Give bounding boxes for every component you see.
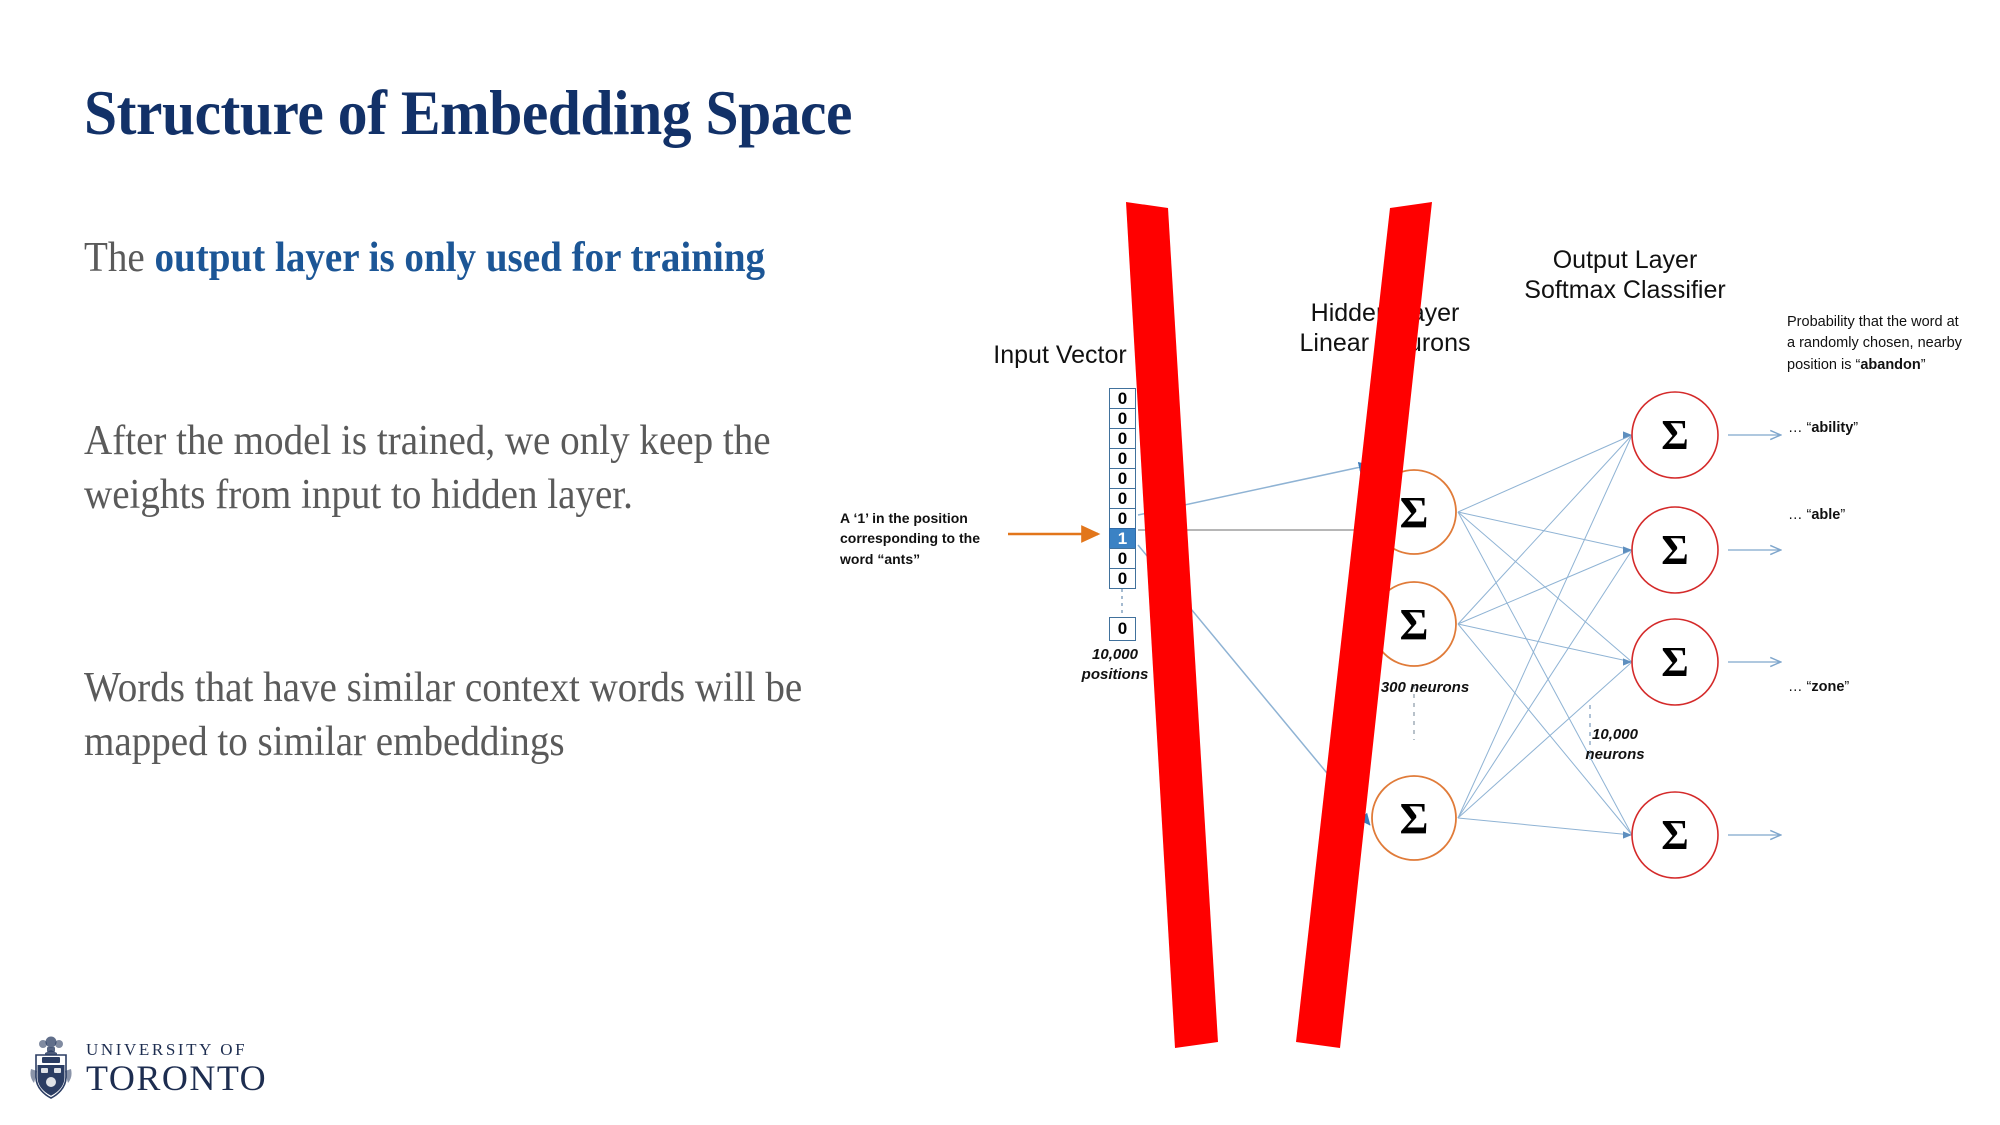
output-description-text: … “ bbox=[1788, 420, 1811, 436]
hidden-to-output-connections bbox=[1458, 435, 1632, 835]
output-neurons-caption-line2: neurons bbox=[1550, 745, 1680, 765]
slide-canvas: Structure of Embedding Space The output … bbox=[0, 0, 2000, 1125]
sigma-icon: Σ bbox=[1384, 788, 1444, 848]
input-vector-label: Input Vector bbox=[930, 340, 1190, 370]
vector-cell: 0 bbox=[1109, 548, 1136, 569]
output-description-word: abandon bbox=[1860, 357, 1920, 373]
sigma-icon: Σ bbox=[1645, 806, 1705, 866]
sigma-icon: Σ bbox=[1645, 521, 1705, 581]
body-paragraph-2: After the model is trained, we only keep… bbox=[84, 415, 884, 523]
output-description: Probability that the word at a randomly … bbox=[1787, 312, 1967, 376]
hidden-layer-label-line2: Linear Neurons bbox=[1250, 328, 1520, 358]
hidden-layer-label: Hidden Layer Linear Neurons bbox=[1250, 298, 1520, 358]
lead-prefix-text: The bbox=[84, 235, 154, 281]
vector-cell-last: 0 bbox=[1109, 617, 1136, 641]
output-description: … “ability” bbox=[1788, 418, 1948, 439]
output-to-label-arrows bbox=[1728, 435, 1780, 835]
uoft-wordmark-line2: TORONTO bbox=[86, 1060, 267, 1096]
uoft-wordmark: UNIVERSITY OF TORONTO bbox=[86, 1041, 267, 1096]
output-description-word: able bbox=[1811, 507, 1840, 523]
output-description-suffix: ” bbox=[1840, 507, 1845, 523]
vector-cell: 0 bbox=[1109, 468, 1136, 489]
uoft-crest-icon bbox=[28, 1035, 74, 1101]
vector-cell: 0 bbox=[1109, 448, 1136, 469]
vector-cell: 0 bbox=[1109, 408, 1136, 429]
input-annotation-text: A ‘1’ in the position corresponding to t… bbox=[840, 508, 1010, 569]
vector-cell-hot: 1 bbox=[1109, 528, 1136, 549]
lead-paragraph: The output layer is only used for traini… bbox=[84, 232, 884, 286]
output-layer-label-line1: Output Layer bbox=[1475, 245, 1775, 275]
output-description-word: ability bbox=[1811, 420, 1853, 436]
input-positions-caption-line1: 10,000 bbox=[1050, 645, 1180, 665]
uoft-wordmark-line1: UNIVERSITY OF bbox=[86, 1041, 267, 1058]
output-description-text: … “ bbox=[1788, 679, 1811, 695]
page-title: Structure of Embedding Space bbox=[84, 78, 1014, 148]
vector-cell: 0 bbox=[1109, 388, 1136, 409]
output-description-suffix: ” bbox=[1853, 420, 1858, 436]
vector-cell: 0 bbox=[1109, 428, 1136, 449]
uoft-logo: UNIVERSITY OF TORONTO bbox=[28, 1032, 268, 1104]
sigma-icon: Σ bbox=[1645, 633, 1705, 693]
lead-highlight-text: output layer is only used for training bbox=[154, 235, 765, 281]
sigma-icon: Σ bbox=[1384, 482, 1444, 542]
output-neurons-caption: 10,000 neurons bbox=[1550, 725, 1680, 764]
sigma-icon: Σ bbox=[1645, 406, 1705, 466]
output-layer-label: Output Layer Softmax Classifier bbox=[1475, 245, 1775, 305]
output-layer-label-line2: Softmax Classifier bbox=[1475, 275, 1775, 305]
output-neurons-caption-line1: 10,000 bbox=[1550, 725, 1680, 745]
output-description-text: … “ bbox=[1788, 507, 1811, 523]
output-input-arrowheads bbox=[1623, 431, 1632, 838]
sigma-icon: Σ bbox=[1384, 594, 1444, 654]
output-description-suffix: ” bbox=[1844, 679, 1849, 695]
output-description: … “zone” bbox=[1788, 677, 1948, 698]
output-description-suffix: ” bbox=[1921, 357, 1926, 373]
hidden-neurons-caption: 300 neurons bbox=[1355, 678, 1495, 698]
output-description: … “able” bbox=[1788, 505, 1948, 526]
vector-cell: 0 bbox=[1109, 568, 1136, 589]
input-positions-caption: 10,000 positions bbox=[1050, 645, 1180, 684]
word2vec-network-diagram: 0 0 0 0 0 0 0 1 0 0 0 Σ Σ Σ Σ Σ Σ Σ Inpu… bbox=[900, 180, 2000, 1060]
input-positions-caption-line2: positions bbox=[1050, 665, 1180, 685]
output-description-word: zone bbox=[1811, 679, 1844, 695]
vector-cell: 0 bbox=[1109, 488, 1136, 509]
vector-cell: 0 bbox=[1109, 508, 1136, 529]
body-paragraph-3: Words that have similar context words wi… bbox=[84, 662, 884, 770]
